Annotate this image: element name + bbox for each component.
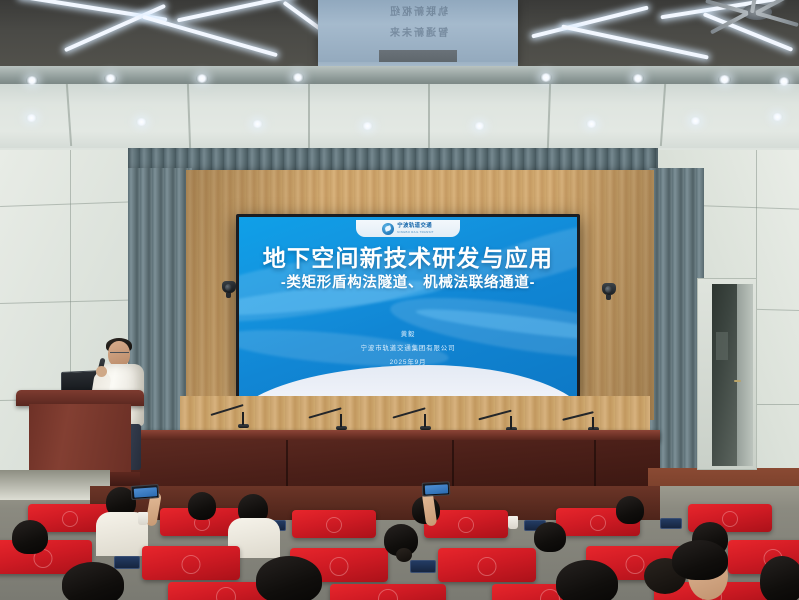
seat-emblem — [62, 511, 78, 527]
audience-phone[interactable] — [131, 484, 160, 500]
audience-member-head — [616, 496, 644, 524]
seat-emblem — [326, 517, 342, 533]
ceiling-downlight — [292, 73, 304, 82]
audience-member-head — [62, 562, 124, 600]
ptz-camera-right — [602, 283, 616, 295]
seat-emblem — [590, 515, 606, 531]
microphone-stem — [510, 416, 512, 429]
seat-emblem — [182, 555, 201, 574]
ceiling-downlight — [252, 120, 263, 128]
audience-member-head — [556, 560, 618, 600]
presentation-slide[interactable]: 宁波轨道交通 NINGBO RAIL TRANSIT 地下空间新技术研发与应用 … — [239, 217, 577, 397]
paper-cup — [508, 516, 518, 529]
camera-mount — [226, 293, 231, 298]
camera-mount — [606, 295, 611, 300]
dais-panel-divider — [286, 440, 288, 492]
slide-organization: 宁波市轨道交通集团有限公司 — [239, 343, 577, 352]
microphone-stem — [592, 417, 594, 429]
ceiling-seam — [428, 84, 430, 150]
microphone-stem — [242, 412, 244, 425]
audience-member-head — [534, 522, 566, 552]
seat-emblem — [626, 555, 645, 574]
auditorium-seat[interactable] — [142, 546, 240, 580]
ceiling-seam — [308, 84, 310, 150]
slide-subtitle: -类矩形盾构法隧道、机械法联络通道- — [239, 271, 577, 292]
ceiling-downlight — [474, 122, 485, 130]
ceiling-downlight — [196, 74, 208, 83]
seat-emblem — [722, 511, 738, 527]
seat-tablet-display[interactable] — [114, 556, 140, 569]
slide-logo-name-en: NINGBO RAIL TRANSIT — [397, 230, 433, 234]
dais-front-panel — [130, 440, 660, 492]
slide-title: 地下空间新技术研发与应用 — [239, 239, 577, 273]
auditorium-seat[interactable] — [438, 548, 536, 582]
ceiling-downlight — [778, 77, 790, 86]
auditorium-seat[interactable] — [330, 584, 446, 600]
ceiling-downlight — [104, 74, 117, 83]
seat-emblem — [216, 587, 236, 600]
slide-logo-badge: 宁波轨道交通 NINGBO RAIL TRANSIT — [356, 220, 460, 237]
microphone-stem — [424, 414, 426, 427]
seat-emblem — [478, 557, 497, 576]
ptz-camera-left — [222, 281, 236, 293]
audience-member-head — [188, 492, 216, 520]
door-window — [716, 332, 728, 360]
conference-hall-photo: 轨联新枢纽 智通新未来 上海城建集团 — [0, 0, 799, 600]
ceiling-downlight — [690, 117, 701, 125]
ningbo-rail-transit-logo-icon — [382, 223, 394, 235]
paper-cup — [138, 512, 148, 525]
presenter-glasses-icon — [110, 352, 129, 356]
phone-screen — [425, 484, 448, 494]
ceiling-downlight — [26, 114, 37, 122]
presenter-hand — [96, 366, 107, 377]
seat-emblem — [378, 589, 398, 600]
side-exit-door-leaf[interactable] — [737, 284, 753, 466]
ceiling-upper-band — [0, 84, 799, 152]
seat-emblem — [458, 517, 474, 533]
ceiling-downlight — [718, 75, 731, 84]
banner-line-1: 轨联新枢纽 — [318, 3, 518, 18]
audience-member-head — [760, 556, 799, 600]
dais-panel-divider — [452, 440, 454, 492]
banner-line-2: 智通新未来 — [318, 24, 518, 39]
ceiling-downlight — [586, 120, 597, 128]
seat-tablet-display[interactable] — [660, 518, 682, 529]
ceiling-downlight — [136, 118, 147, 126]
phone-screen — [134, 487, 158, 498]
microphone-stem — [340, 414, 342, 427]
ceiling-downlight — [632, 74, 644, 83]
ceiling-downlight — [540, 73, 552, 82]
stage-curtain-right — [648, 168, 704, 468]
slide-logo-name-cn: 宁波轨道交通 — [397, 223, 433, 229]
audience-hair-bun — [396, 548, 412, 562]
dais-panel-divider — [594, 440, 596, 492]
audience-phone[interactable] — [422, 481, 451, 496]
audience-member-head — [256, 556, 322, 600]
ceiling-downlight — [26, 76, 38, 85]
slide-presenter: 黄毅 — [239, 329, 577, 338]
auditorium-seat[interactable] — [292, 510, 376, 538]
seat-emblem — [330, 557, 349, 576]
ceiling-downlight — [772, 113, 783, 121]
seat-tablet-display[interactable] — [410, 560, 436, 573]
slide-bottom-curve — [239, 365, 577, 397]
ceiling-downlight — [362, 122, 373, 130]
audience-member-head — [672, 540, 728, 580]
audience-member-head — [12, 520, 48, 554]
